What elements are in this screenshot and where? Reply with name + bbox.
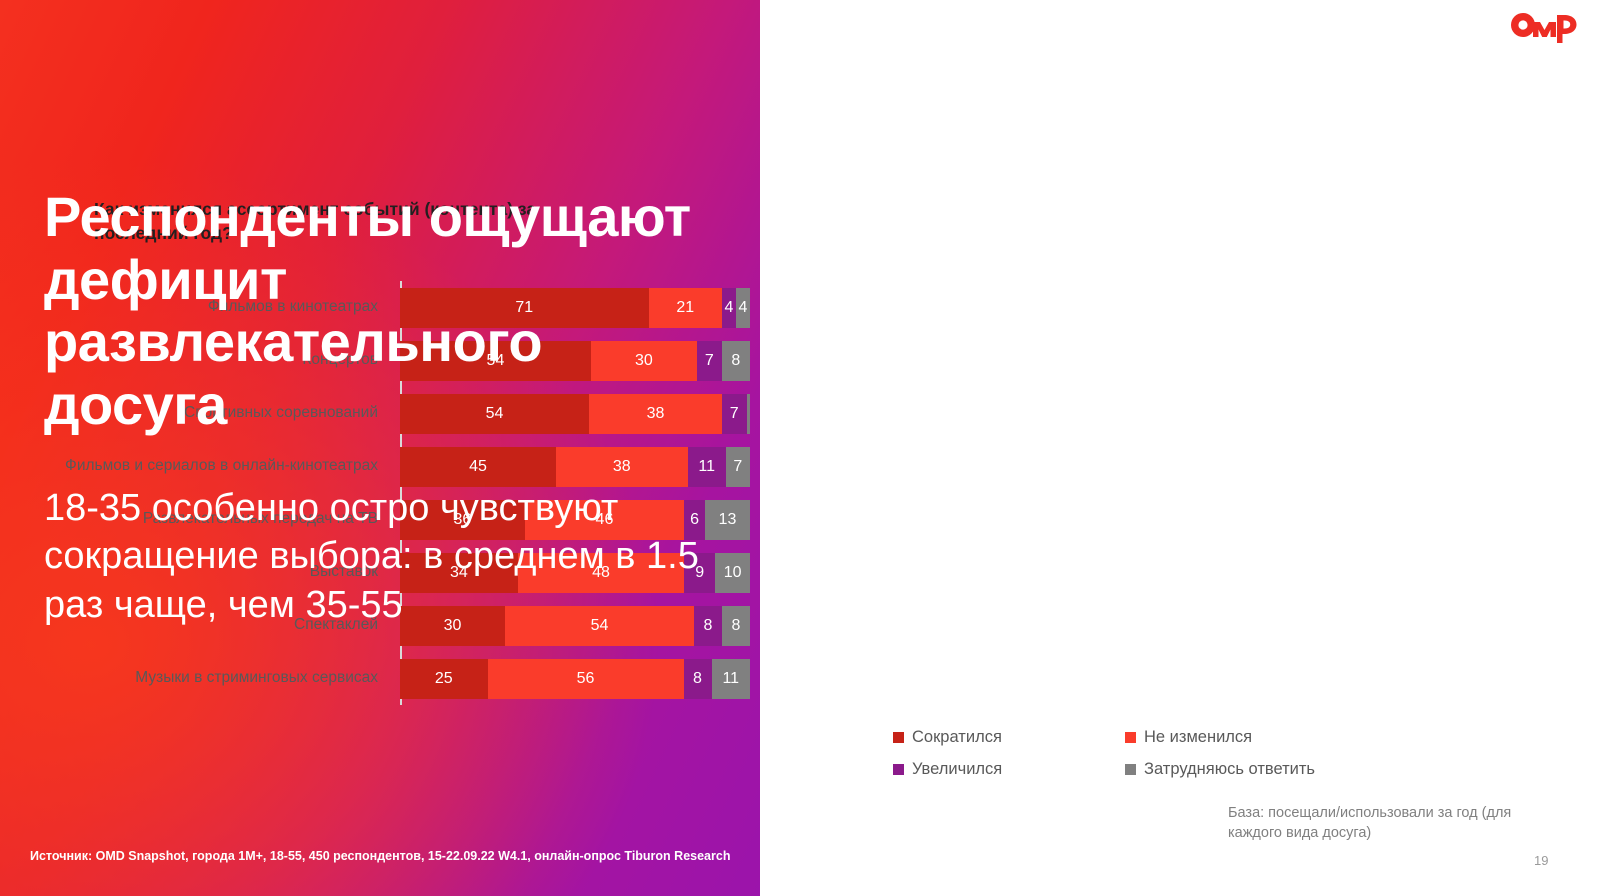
chart-row: Музыки в стриминговых сервисах2556811 <box>40 652 750 705</box>
chart-category-label: Фильмов и сериалов в онлайн-кинотеатрах <box>40 457 392 475</box>
legend-label: Не изменился <box>1144 728 1252 747</box>
slide: Респонденты ощущают дефицит развлекатель… <box>0 0 1600 896</box>
legend-label: Затрудняюсь ответить <box>1144 760 1315 779</box>
chart-base-note: База: посещали/использовали за год (для … <box>1228 803 1518 843</box>
chart-bar: 2556811 <box>400 659 750 699</box>
chart-segment <box>747 394 751 434</box>
chart-segment: 45 <box>400 447 556 487</box>
legend-item-3[interactable]: Затрудняюсь ответить <box>1125 760 1357 779</box>
omd-logo <box>1506 9 1578 49</box>
chart-segment: 4 <box>722 288 736 328</box>
chart-bar: 4538117 <box>400 447 750 487</box>
chart-segment: 25 <box>400 659 488 699</box>
legend-swatch-icon <box>893 764 904 775</box>
legend-label: Увеличился <box>912 760 1002 779</box>
legend-swatch-icon <box>1125 732 1136 743</box>
chart-segment: 7 <box>722 394 747 434</box>
chart-segment: 10 <box>715 553 750 593</box>
chart-segment: 8 <box>722 341 750 381</box>
chart-legend: Сократился Не изменился Увеличился Затру… <box>893 728 1413 779</box>
chart-segment: 8 <box>684 659 712 699</box>
chart-category-label: Музыки в стриминговых сервисах <box>40 669 392 687</box>
chart-segment: 11 <box>712 659 751 699</box>
legend-swatch-icon <box>893 732 904 743</box>
chart-segment: 13 <box>705 500 750 540</box>
chart-segment: 8 <box>722 606 750 646</box>
page-title: Респонденты ощущают дефицит развлекатель… <box>44 186 704 437</box>
chart-segment: 11 <box>688 447 726 487</box>
page-number: 19 <box>1534 853 1548 868</box>
legend-swatch-icon <box>1125 764 1136 775</box>
chart-segment: 38 <box>556 447 688 487</box>
source-footnote: Источник: OMD Snapshot, города 1М+, 18-5… <box>30 849 750 864</box>
chart-segment: 7 <box>726 447 750 487</box>
legend-item-1[interactable]: Не изменился <box>1125 728 1357 747</box>
legend-item-2[interactable]: Увеличился <box>893 760 1125 779</box>
chart-segment: 4 <box>736 288 750 328</box>
subtitle-text: 18-35 особенно остро чувствуют сокращени… <box>44 484 704 629</box>
legend-label: Сократился <box>912 728 1002 747</box>
legend-item-0[interactable]: Сократился <box>893 728 1125 747</box>
chart-segment: 56 <box>488 659 684 699</box>
